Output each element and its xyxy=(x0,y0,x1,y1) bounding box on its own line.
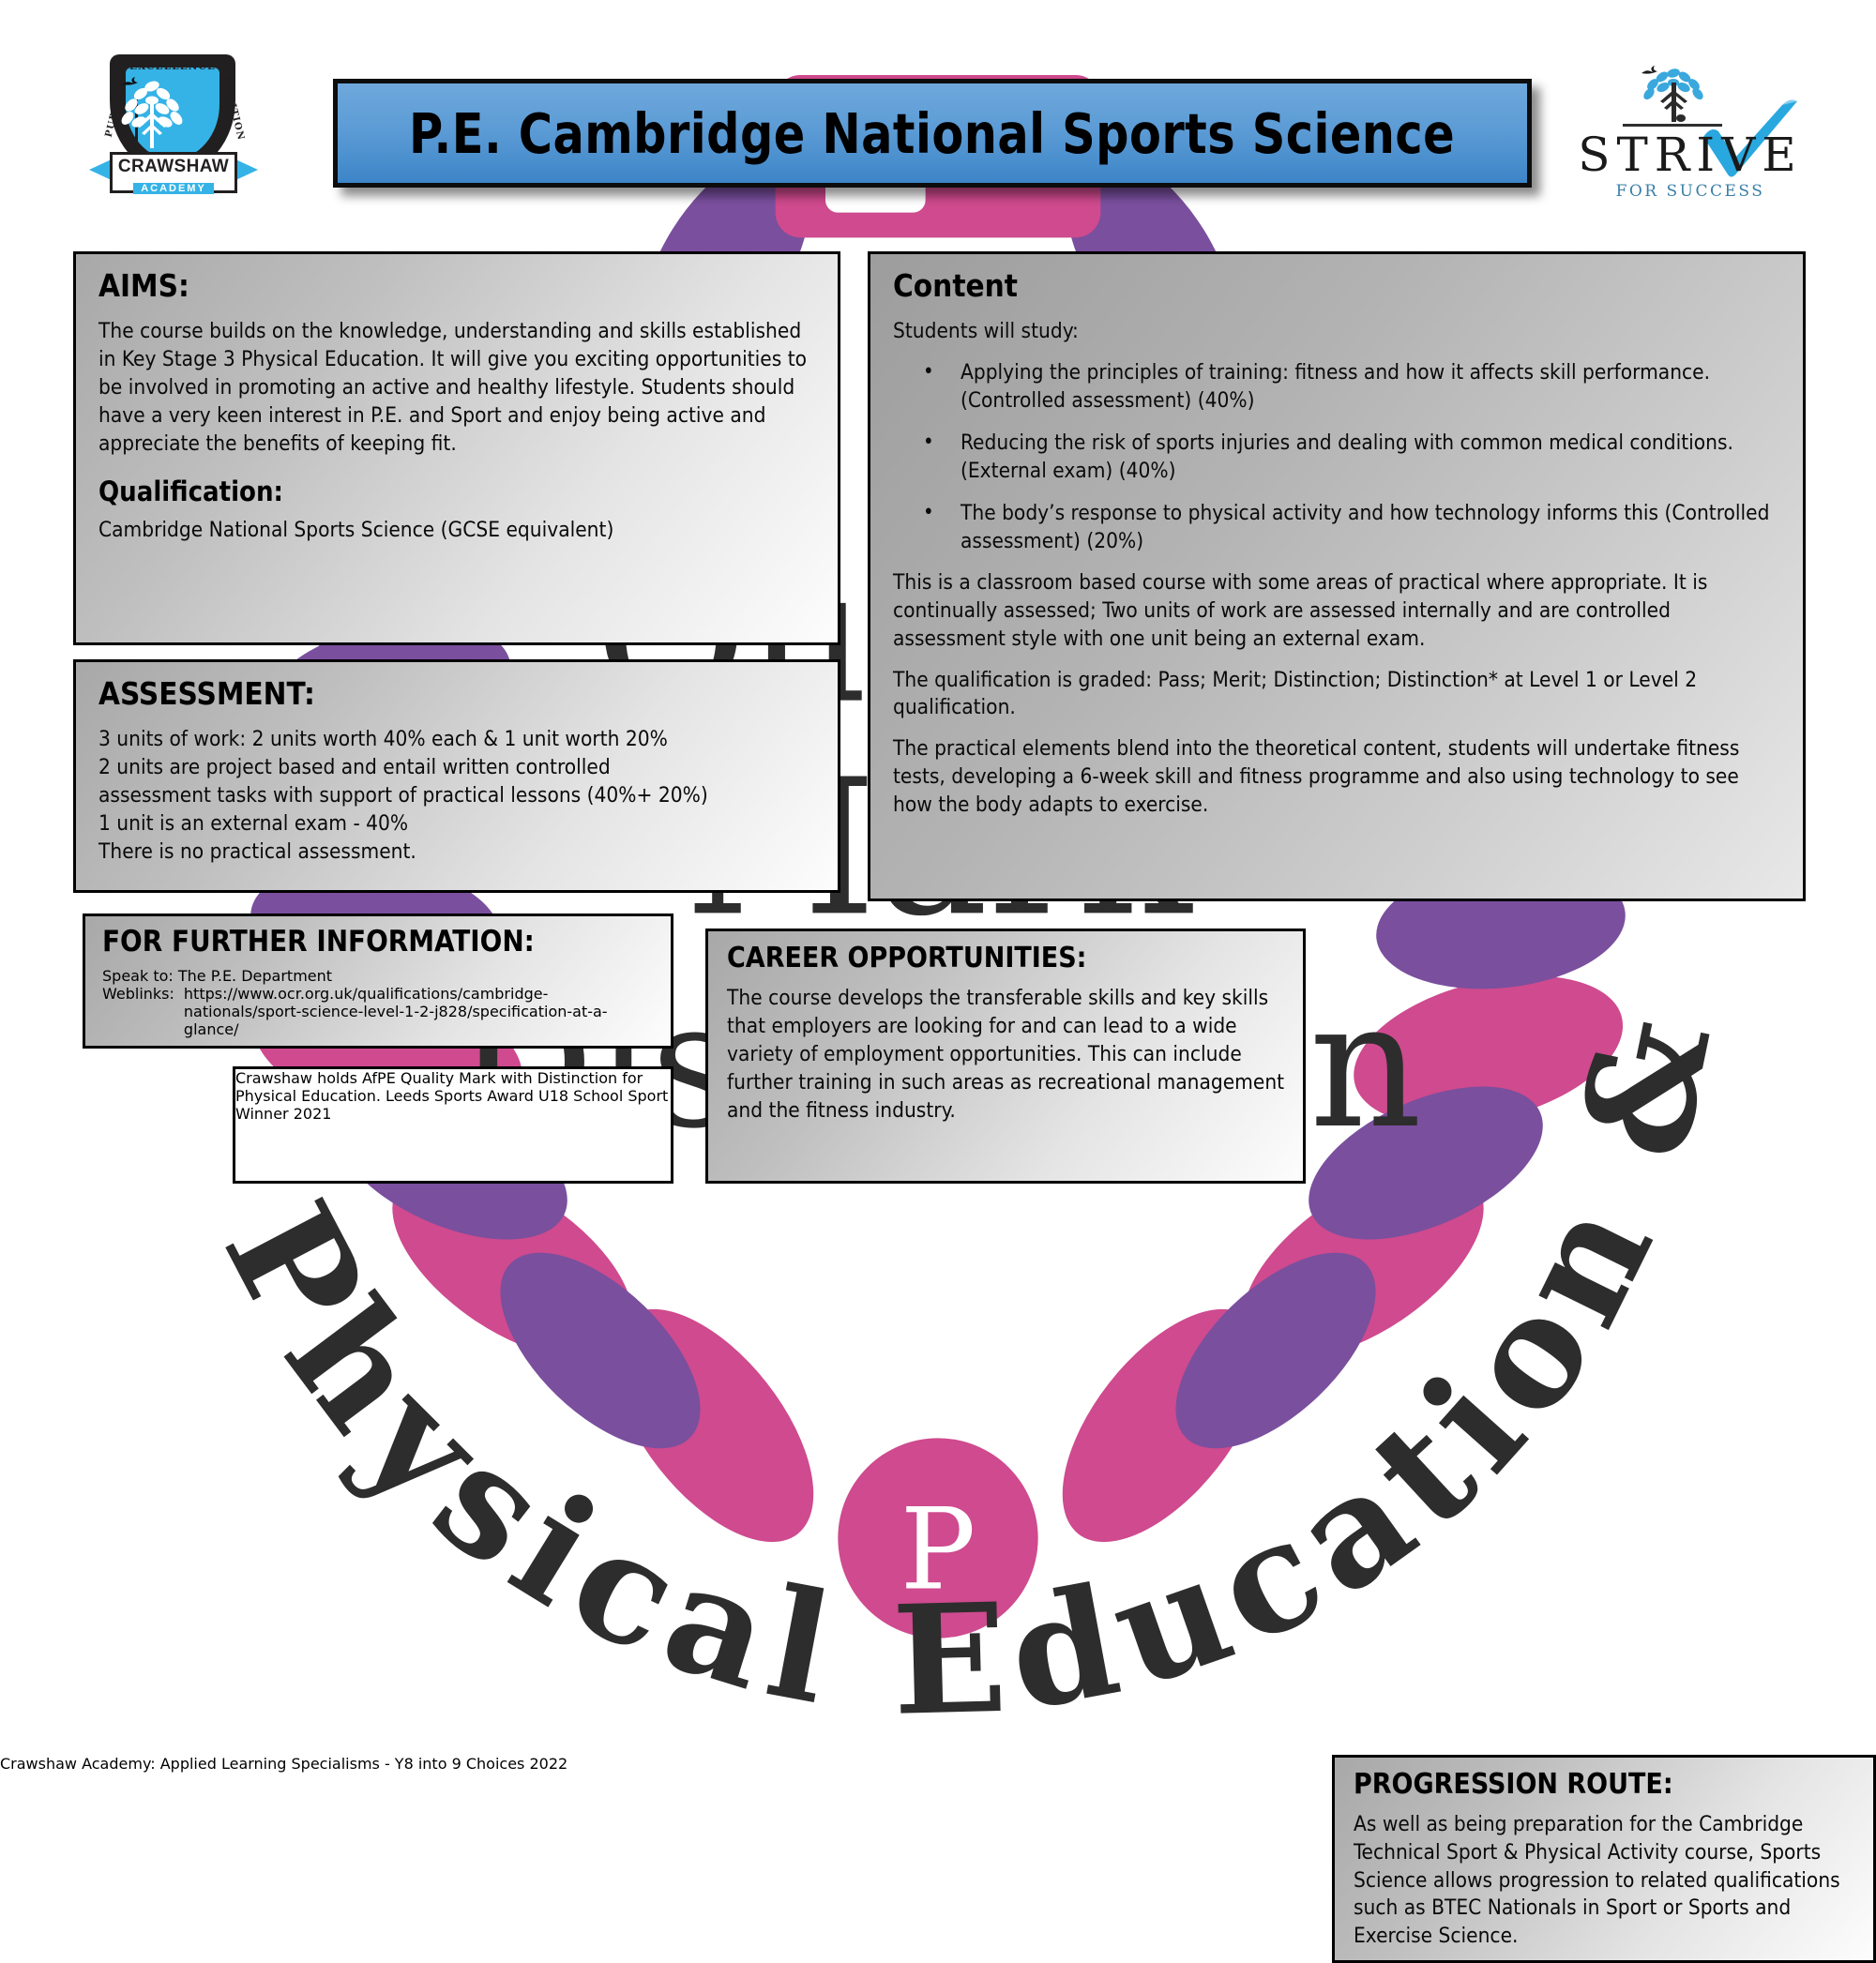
progression-heading: PROGRESSION ROUTE: xyxy=(1354,1769,1856,1800)
content-panel: Content Students will study: Applying th… xyxy=(868,251,1806,901)
progression-body: As well as being preparation for the Cam… xyxy=(1354,1811,1856,1952)
weblink-url[interactable]: https://www.ocr.org.uk/qualifications/ca… xyxy=(184,985,656,1038)
qualification-heading: Qualification: xyxy=(98,477,817,507)
strive-tagline: FOR SUCCESS xyxy=(1568,182,1812,201)
further-information-panel: FOR FURTHER INFORMATION: Speak to: The P… xyxy=(83,914,673,1049)
content-heading: Content xyxy=(893,269,1782,303)
crest-word-excellence: EXCELLENCE xyxy=(129,61,216,72)
list-item: The body’s response to physical activity… xyxy=(893,500,1782,556)
assessment-panel: ASSESSMENT: 3 units of work: 2 units wor… xyxy=(73,659,840,893)
content-intro: Students will study: xyxy=(893,318,1782,346)
content-paragraph: The practical elements blend into the th… xyxy=(893,735,1782,820)
career-body: The course develops the transferable ski… xyxy=(727,985,1286,1125)
speak-to-line: Speak to: The P.E. Department xyxy=(102,967,656,985)
school-subtitle: ACADEMY xyxy=(133,183,214,194)
progression-route-panel: PROGRESSION ROUTE: As well as being prep… xyxy=(1332,1755,1876,1963)
assessment-heading: ASSESSMENT: xyxy=(98,677,817,711)
page-title-banner: P.E. Cambridge National Sports Science xyxy=(333,79,1532,188)
list-item: Applying the principles of training: fit… xyxy=(893,359,1782,415)
awards-text: Crawshaw holds AfPE Quality Mark with Di… xyxy=(235,1069,671,1123)
assessment-body: 3 units of work: 2 units worth 40% each … xyxy=(98,726,817,867)
career-opportunities-panel: CAREER OPPORTUNITIES: The course develop… xyxy=(705,929,1306,1184)
aims-body: The course builds on the knowledge, unde… xyxy=(98,318,817,459)
content-bullet-list: Applying the principles of training: fit… xyxy=(893,359,1782,556)
list-item: Reducing the risk of sports injuries and… xyxy=(893,430,1782,486)
content-paragraph: The qualification is graded: Pass; Merit… xyxy=(893,667,1782,723)
aims-heading: AIMS: xyxy=(98,269,817,303)
aims-panel: AIMS: The course builds on the knowledge… xyxy=(73,251,840,645)
career-heading: CAREER OPPORTUNITIES: xyxy=(727,943,1286,974)
strive-wordmark: STRIVE xyxy=(1568,128,1812,182)
strive-for-success-logo: STRIVE FOR SUCCESS xyxy=(1568,62,1812,216)
page-title: P.E. Cambridge National Sports Science xyxy=(409,101,1455,166)
crawshaw-academy-logo: EXCELLENCE PURPOSE AMBITION CRAWSHAW ACA… xyxy=(89,54,258,219)
weblinks-label: Weblinks: xyxy=(102,985,174,1003)
further-info-heading: FOR FURTHER INFORMATION: xyxy=(102,926,656,958)
page-header: EXCELLENCE PURPOSE AMBITION CRAWSHAW ACA… xyxy=(0,0,1876,234)
awards-text-box: Crawshaw holds AfPE Quality Mark with Di… xyxy=(233,1066,673,1184)
banner-center: CRAWSHAW ACADEMY xyxy=(110,152,237,193)
qualification-body: Cambridge National Sports Science (GCSE … xyxy=(98,517,817,545)
school-name: CRAWSHAW xyxy=(113,157,234,177)
crest-banner: CRAWSHAW ACADEMY xyxy=(89,152,258,195)
content-paragraph: This is a classroom based course with so… xyxy=(893,569,1782,654)
